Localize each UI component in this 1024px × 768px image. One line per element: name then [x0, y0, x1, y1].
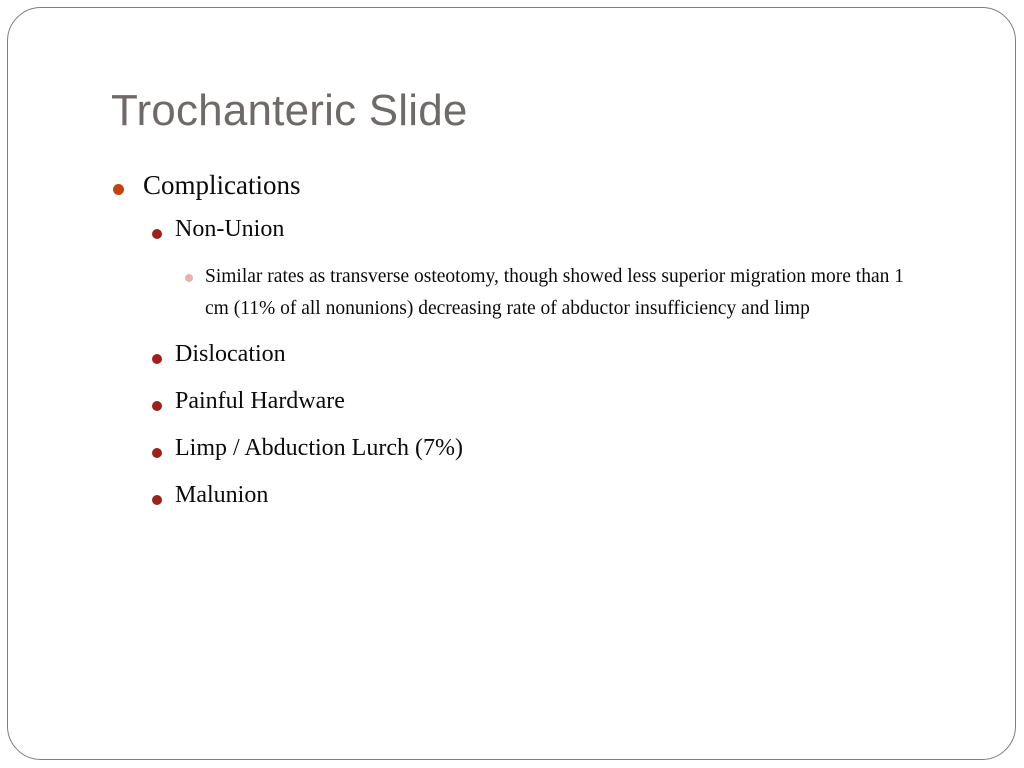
list-item-label: Dislocation [175, 339, 1024, 370]
list-item-label: Painful Hardware [175, 386, 1024, 417]
list-item-label: Non-Union [175, 214, 1024, 245]
bullet-dot-icon [152, 354, 162, 364]
spacer [0, 325, 1024, 339]
bullet-dot-icon [152, 229, 162, 239]
bullet-dot-icon [185, 274, 193, 282]
list-item-dislocation: Dislocation [0, 339, 1024, 386]
list-item-label: Complications [143, 168, 1024, 202]
slide-content-list: Complications Non-Union Similar rates as… [0, 168, 1024, 527]
page-title: Trochanteric Slide [111, 84, 941, 138]
bullet-dot-icon [152, 495, 162, 505]
list-item-malunion: Malunion [0, 480, 1024, 527]
list-item-limp-abduction-lurch: Limp / Abduction Lurch (7%) [0, 433, 1024, 480]
list-item-non-union: Non-Union [0, 214, 1024, 261]
list-item-label: Limp / Abduction Lurch (7%) [175, 433, 1024, 464]
list-item-paragraph: Similar rates as transverse osteotomy, t… [205, 261, 914, 325]
slide: Trochanteric Slide Complications Non-Uni… [0, 0, 1024, 768]
list-item-label: Malunion [175, 480, 1024, 511]
list-item-complications: Complications [0, 168, 1024, 214]
bullet-dot-icon [113, 184, 124, 195]
bullet-dot-icon [152, 401, 162, 411]
bullet-dot-icon [152, 448, 162, 458]
list-item-non-union-detail: Similar rates as transverse osteotomy, t… [0, 261, 1024, 325]
list-item-painful-hardware: Painful Hardware [0, 386, 1024, 433]
